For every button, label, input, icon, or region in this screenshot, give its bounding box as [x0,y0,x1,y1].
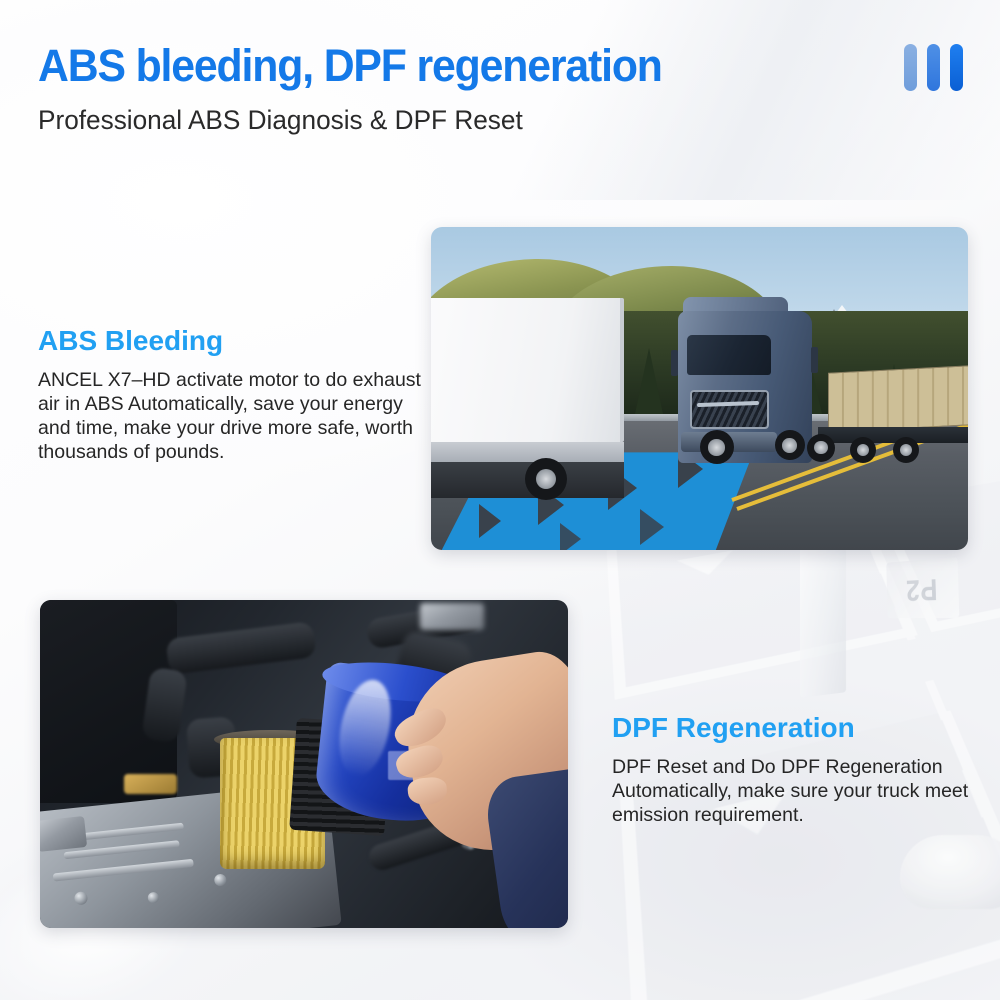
watermark-pillar [800,542,846,698]
box-truck [431,298,651,498]
watermark-sign-p2: P2 [886,557,959,618]
bar-3 [950,44,963,91]
photo-dpf-filter-scene [40,600,568,928]
feature-block-abs: ABS Bleeding ANCEL X7–HD activate motor … [38,325,423,464]
bar-1 [904,44,917,91]
decorative-bars [904,44,963,91]
watermark-dome [900,835,1000,909]
feature-heading-dpf: DPF Regeneration [612,712,984,744]
promo-page: P2 ABS bleeding, DPF regeneration Profes… [0,0,1000,1000]
feature-body-dpf: DPF Reset and Do DPF Regeneration Automa… [612,755,984,827]
feature-body-abs: ANCEL X7–HD activate motor to do exhaust… [38,368,423,464]
header-sheen [0,0,1000,200]
bar-2 [927,44,940,91]
feature-block-dpf: DPF Regeneration DPF Reset and Do DPF Re… [612,712,984,827]
page-subtitle: Professional ABS Diagnosis & DPF Reset [38,105,523,136]
page-title: ABS bleeding, DPF regeneration [38,40,662,92]
photo-abs-truck-scene [431,227,968,550]
feature-heading-abs: ABS Bleeding [38,325,423,357]
